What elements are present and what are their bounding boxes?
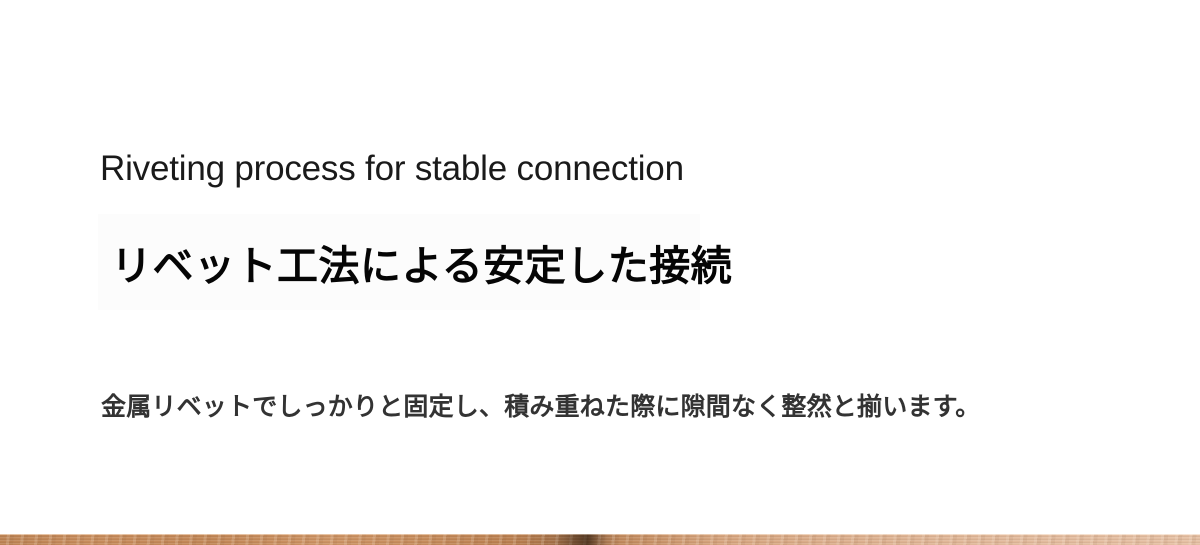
english-title: Riveting process for stable connection [100,146,1100,192]
japanese-headline: リベット工法による安定した接続 [111,238,1111,294]
wood-top-highlight [0,534,1200,535]
wood-plank-strip [0,534,1200,545]
slide-canvas: Riveting process for stable connection リ… [0,0,1200,545]
wood-grain-texture [0,534,1200,545]
wood-knot-mark [555,534,607,545]
japanese-body-text: 金属リベットでしっかりと固定し、積み重ねた際に隙間なく整然と揃います。 [101,388,1161,426]
wood-streak-texture [0,534,1200,545]
